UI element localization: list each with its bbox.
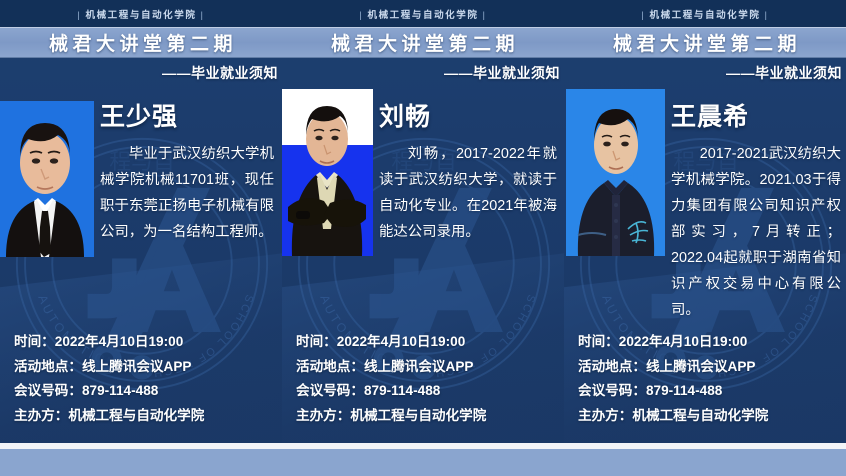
- footer-blue-strip: [282, 449, 564, 476]
- subtitle-row: ——毕业就业须知: [0, 58, 282, 88]
- speaker-panel-2: AUTOMATION SCHOOL OF MECHANICAL 程与自: [282, 0, 564, 476]
- top-bar-text: |机械工程与自动化学院|: [73, 7, 208, 21]
- bar-glyph-left: |: [73, 10, 85, 21]
- bar-glyph-right: |: [479, 10, 491, 21]
- subtitle-row: ——毕业就业须知: [282, 58, 564, 88]
- speaker-info-block: 王晨希 2017-2021武汉纺织大学机械学院。2021.03于得力集团有限公司…: [671, 104, 841, 323]
- event-time: 时间：2022年4月10日19:00: [296, 330, 558, 355]
- banner-title: 械君大讲堂第二期: [327, 29, 519, 56]
- school-name-top: 机械工程与自动化学院: [367, 10, 478, 21]
- top-bar-text: |机械工程与自动化学院|: [355, 7, 490, 21]
- speaker-name: 刘畅: [379, 104, 557, 132]
- speaker-bio: 毕业于武汉纺织大学机械学院机械11701班，现任职于东莞正扬电子机械有限公司，为…: [100, 141, 274, 245]
- event-organizer: 主办方：机械工程与自动化学院: [578, 404, 840, 429]
- bar-glyph-right: |: [197, 10, 209, 21]
- event-details: 时间：2022年4月10日19:00 活动地点：线上腾讯会议APP 会议号码：8…: [296, 330, 558, 428]
- event-details: 时间：2022年4月10日19:00 活动地点：线上腾讯会议APP 会议号码：8…: [578, 330, 840, 428]
- bar-glyph-left: |: [637, 10, 649, 21]
- subtitle-text: ——毕业就业须知: [444, 63, 560, 83]
- banner-title: 械君大讲堂第二期: [45, 29, 237, 56]
- meeting-id: 会议号码：879-114-488: [14, 379, 276, 404]
- event-details: 时间：2022年4月10日19:00 活动地点：线上腾讯会议APP 会议号码：8…: [14, 330, 276, 428]
- subtitle-text: ——毕业就业须知: [726, 63, 842, 83]
- speaker-bio: 2017-2021武汉纺织大学机械学院。2021.03于得力集团有限公司知识产权…: [671, 141, 841, 323]
- event-location: 活动地点：线上腾讯会议APP: [296, 355, 558, 380]
- speaker-bio: 刘畅，2017-2022年就读于武汉纺织大学，就读于自动化专业。在2021年被海…: [379, 141, 557, 245]
- event-location: 活动地点：线上腾讯会议APP: [14, 355, 276, 380]
- banner-title: 械君大讲堂第二期: [609, 29, 801, 56]
- speaker-name: 王晨希: [671, 104, 841, 132]
- banner-band: 械君大讲堂第二期: [564, 27, 846, 58]
- event-organizer: 主办方：机械工程与自动化学院: [14, 404, 276, 429]
- panel-top-bar: |机械工程与自动化学院|: [564, 0, 846, 27]
- speaker-photo: [0, 101, 94, 257]
- event-time: 时间：2022年4月10日19:00: [578, 330, 840, 355]
- subtitle-text: ——毕业就业须知: [162, 63, 278, 83]
- panel-top-bar: |机械工程与自动化学院|: [0, 0, 282, 27]
- panel-footer: [282, 443, 564, 476]
- footer-blue-strip: [564, 449, 846, 476]
- school-name-top: 机械工程与自动化学院: [649, 10, 760, 21]
- footer-blue-strip: [0, 449, 282, 476]
- panel-top-bar: |机械工程与自动化学院|: [282, 0, 564, 27]
- subtitle-row: ——毕业就业须知: [564, 58, 846, 88]
- banner-band: 械君大讲堂第二期: [0, 27, 282, 58]
- speaker-panel-1: AUTOMATION SCHOOL OF MECHANICAL 程与自: [0, 0, 282, 476]
- event-organizer: 主办方：机械工程与自动化学院: [296, 404, 558, 429]
- speaker-name: 王少强: [100, 104, 274, 132]
- meeting-id: 会议号码：879-114-488: [296, 379, 558, 404]
- event-location: 活动地点：线上腾讯会议APP: [578, 355, 840, 380]
- meeting-id: 会议号码：879-114-488: [578, 379, 840, 404]
- speaker-panel-3: AUTOMATION SCHOOL OF MECHANICAL 程与自: [564, 0, 846, 476]
- top-bar-text: |机械工程与自动化学院|: [637, 7, 772, 21]
- poster-stage: AUTOMATION SCHOOL OF MECHANICAL 程与自: [0, 0, 846, 476]
- speaker-photo: [282, 89, 373, 256]
- event-time: 时间：2022年4月10日19:00: [14, 330, 276, 355]
- school-name-top: 机械工程与自动化学院: [85, 10, 196, 21]
- banner-band: 械君大讲堂第二期: [282, 27, 564, 58]
- panel-footer: [0, 443, 282, 476]
- speaker-info-block: 刘畅 刘畅，2017-2022年就读于武汉纺织大学，就读于自动化专业。在2021…: [379, 104, 557, 245]
- bar-glyph-right: |: [761, 10, 773, 21]
- bar-glyph-left: |: [355, 10, 367, 21]
- panel-footer: [564, 443, 846, 476]
- speaker-photo: [566, 89, 665, 256]
- speaker-info-block: 王少强 毕业于武汉纺织大学机械学院机械11701班，现任职于东莞正扬电子机械有限…: [100, 104, 274, 245]
